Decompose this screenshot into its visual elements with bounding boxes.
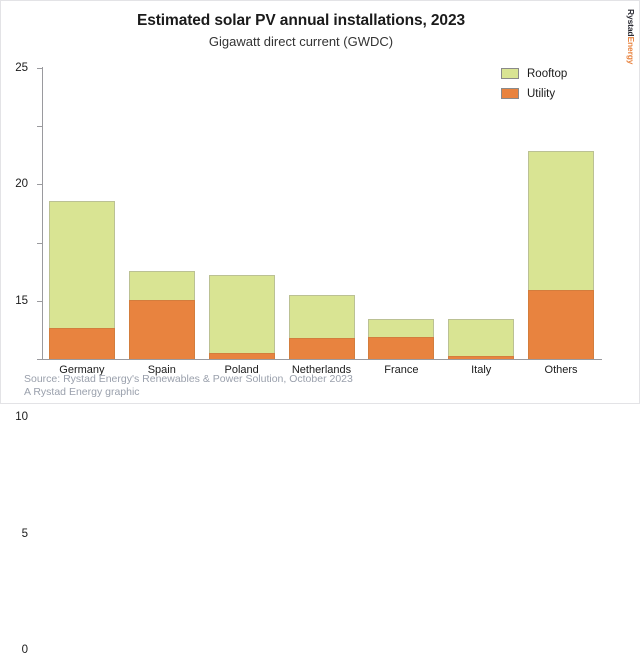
- y-tick-label-0: 0: [22, 644, 28, 656]
- legend-label-utility: Utility: [527, 88, 555, 100]
- rystad-energy-logo: RystadEnergy: [623, 9, 637, 73]
- legend-item-rooftop[interactable]: Rooftop: [501, 65, 567, 82]
- chart-title: Estimated solar PV annual installations,…: [1, 12, 601, 30]
- bar-italy: [448, 68, 514, 359]
- bar-segment-utility-netherlands: [289, 338, 355, 359]
- chart-figure: Estimated solar PV annual installations,…: [0, 0, 640, 404]
- legend-item-utility[interactable]: Utility: [501, 85, 567, 102]
- y-tick-5: 5: [37, 301, 42, 302]
- y-tick-15: 15: [37, 184, 42, 185]
- bar-segment-utility-germany: [49, 328, 115, 359]
- bar-spain: [129, 68, 195, 359]
- y-tick-20: 20: [37, 126, 42, 127]
- y-tick-label-15: 15: [15, 295, 28, 307]
- source-note: Source: Rystad Energy's Renewables & Pow…: [24, 373, 353, 386]
- chart-footnotes: Source: Rystad Energy's Renewables & Pow…: [24, 373, 353, 399]
- y-tick-label-10: 10: [15, 411, 28, 423]
- y-tick-10: 10: [37, 243, 42, 244]
- x-axis-label-others: Others: [501, 364, 621, 376]
- legend-swatch-rooftop: [501, 68, 519, 79]
- bar-segment-utility-poland: [209, 353, 275, 359]
- y-tick-label-20: 20: [15, 178, 28, 190]
- credit-note: A Rystad Energy graphic: [24, 386, 353, 399]
- bar-segment-rooftop-spain: [129, 271, 195, 300]
- y-tick-25: 25: [37, 68, 42, 69]
- chart-legend: RooftopUtility: [501, 65, 567, 105]
- bar-france: [368, 68, 434, 359]
- bar-segment-utility-france: [368, 337, 434, 359]
- bar-segment-rooftop-poland: [209, 275, 275, 353]
- bar-segment-utility-others: [528, 290, 594, 359]
- logo-text-energy: Energy: [626, 36, 636, 64]
- bar-segment-rooftop-italy: [448, 319, 514, 355]
- bar-segment-rooftop-germany: [49, 201, 115, 328]
- bar-others: [528, 68, 594, 359]
- chart-subtitle: Gigawatt direct current (GWDC): [1, 34, 601, 49]
- bar-segment-rooftop-france: [368, 319, 434, 336]
- bar-netherlands: [289, 68, 355, 359]
- legend-swatch-utility: [501, 88, 519, 99]
- bar-germany: [49, 68, 115, 359]
- y-tick-label-5: 5: [22, 528, 28, 540]
- y-tick-label-25: 25: [15, 62, 28, 74]
- bar-segment-utility-spain: [129, 300, 195, 359]
- logo-text-rystad: Rystad: [626, 9, 636, 36]
- y-tick-0: 0: [37, 359, 42, 360]
- x-axis-line: [42, 359, 602, 360]
- bar-poland: [209, 68, 275, 359]
- legend-label-rooftop: Rooftop: [527, 68, 567, 80]
- bar-segment-utility-italy: [448, 356, 514, 359]
- bar-segment-rooftop-others: [528, 151, 594, 291]
- bar-segment-rooftop-netherlands: [289, 295, 355, 338]
- plot-area: 0510152025: [42, 68, 601, 359]
